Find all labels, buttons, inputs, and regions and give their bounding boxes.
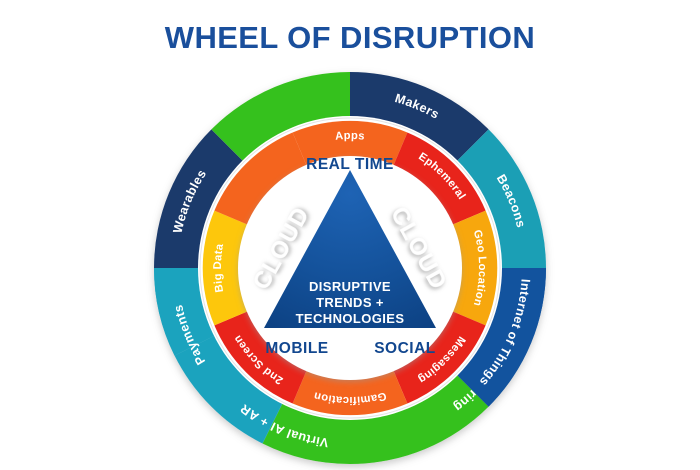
wheel-of-disruption-graphic: Makers Beacons Internet of Things Sharin… (140, 72, 560, 464)
infographic-page: WHEEL OF DISRUPTION (0, 0, 700, 470)
triangle-line-3: TECHNOLOGIES (296, 311, 405, 326)
wheel-svg: Makers Beacons Internet of Things Sharin… (140, 72, 560, 464)
corner-label-real-time: REAL TIME (306, 156, 394, 173)
inner-label-apps: Apps (335, 130, 366, 143)
corner-label-mobile: MOBILE (265, 340, 328, 357)
corner-label-social: SOCIAL (374, 340, 436, 357)
triangle-line-2: TRENDS + (316, 295, 384, 310)
triangle-line-1: DISRUPTIVE (309, 279, 391, 294)
page-title: WHEEL OF DISRUPTION (0, 20, 700, 56)
